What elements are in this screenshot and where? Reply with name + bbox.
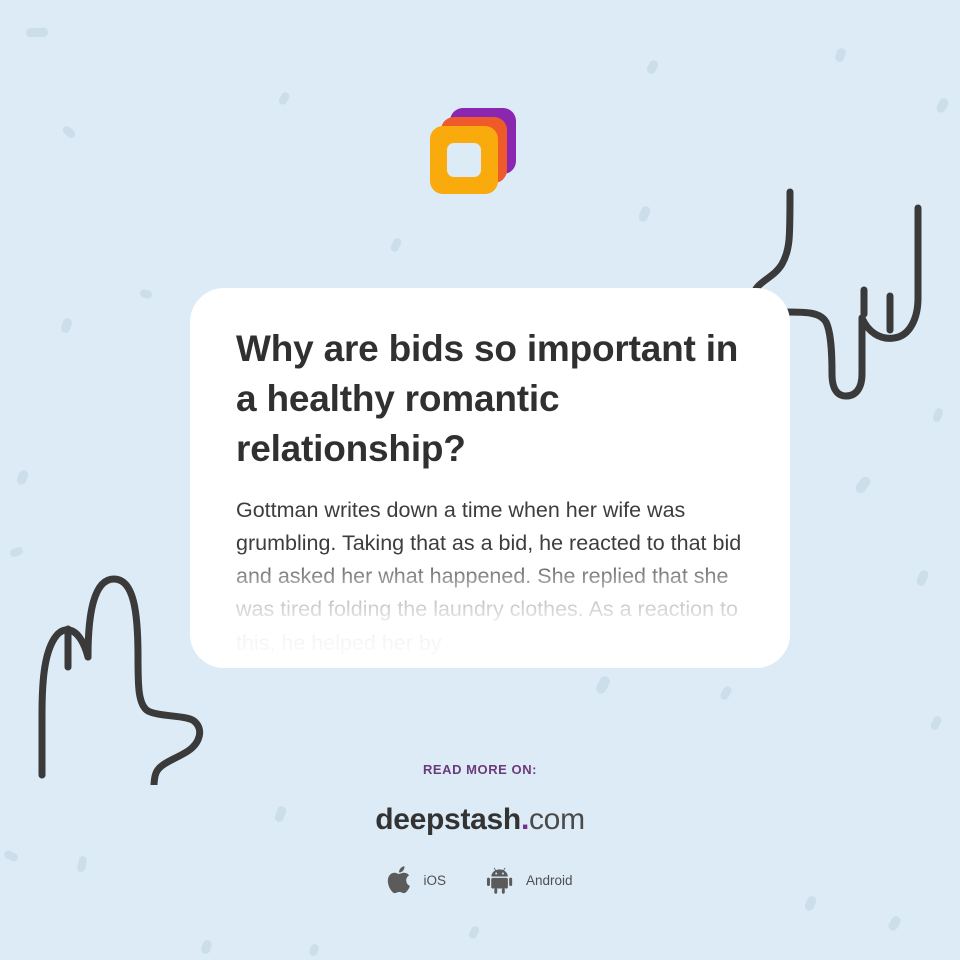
confetti-dash <box>594 675 611 696</box>
brand-tld: com <box>529 803 585 836</box>
confetti-dash <box>139 289 153 300</box>
confetti-dash <box>854 475 873 495</box>
idea-card: Why are bids so important in a healthy r… <box>190 288 790 668</box>
brand-name: deepstash <box>375 803 521 836</box>
ios-store-label: iOS <box>423 873 446 888</box>
read-more-label: READ MORE ON: <box>0 762 960 777</box>
logo-square-front <box>430 126 498 194</box>
android-store-label: Android <box>526 873 573 888</box>
logo-cutout <box>447 143 481 177</box>
confetti-dash <box>468 925 481 940</box>
confetti-dash <box>932 407 944 423</box>
confetti-dash <box>935 97 950 114</box>
confetti-dash <box>61 124 77 139</box>
ios-store-badge[interactable]: iOS <box>387 864 446 896</box>
hand-up-icon <box>28 565 208 785</box>
confetti-dash <box>389 237 402 253</box>
confetti-dash <box>929 715 942 731</box>
confetti-dash <box>16 469 30 486</box>
deepstash-logo <box>430 108 516 194</box>
card-body-text: Gottman writes down a time when her wife… <box>236 494 744 660</box>
android-store-badge[interactable]: Android <box>486 864 573 896</box>
brand-dot: . <box>521 803 529 836</box>
confetti-dash <box>60 317 73 334</box>
confetti-dash <box>887 915 902 932</box>
confetti-dash <box>803 895 817 912</box>
idea-card-content: Why are bids so important in a healthy r… <box>190 288 790 660</box>
confetti-dash <box>719 685 733 701</box>
confetti-dash <box>645 59 660 76</box>
card-title: Why are bids so important in a healthy r… <box>236 324 744 474</box>
apple-icon <box>387 864 414 896</box>
confetti-dash <box>915 569 929 587</box>
confetti-dash <box>9 546 24 558</box>
confetti-dash <box>277 91 290 106</box>
confetti-dash <box>308 943 319 957</box>
footer: READ MORE ON: deepstash.com iOS <box>0 762 960 896</box>
confetti-dash <box>834 47 847 63</box>
android-icon <box>486 864 517 896</box>
confetti-dash <box>200 939 213 955</box>
app-store-badges: iOS Android <box>0 864 960 896</box>
brand-wordmark[interactable]: deepstash.com <box>0 803 960 837</box>
confetti-dash <box>26 28 48 38</box>
pointing-up-hand-illustration <box>28 565 208 790</box>
confetti-dash <box>637 205 651 223</box>
